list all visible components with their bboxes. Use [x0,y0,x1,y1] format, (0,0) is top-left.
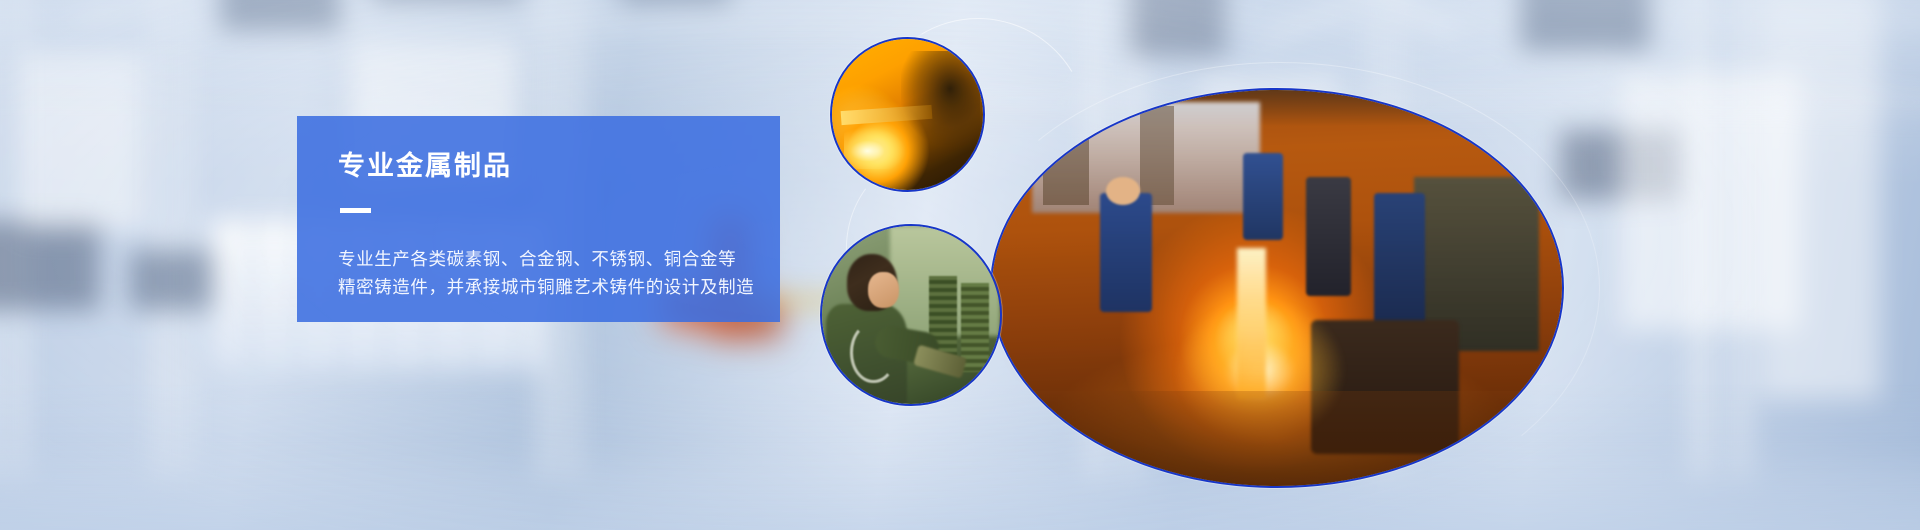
hero-text-panel: 专业金属制品 专业生产各类碳素钢、合金钢、不锈钢、铜合金等 精密铸造件，并承接城… [297,116,780,322]
hero-banner: 专业金属制品 专业生产各类碳素钢、合金钢、不锈钢、铜合金等 精密铸造件，并承接城… [0,0,1920,530]
hero-description: 专业生产各类碳素钢、合金钢、不锈钢、铜合金等 精密铸造件，并承接城市铜雕艺术铸件… [338,245,780,302]
welding-photo [830,37,985,192]
worker-photo [820,224,1002,406]
hero-description-line-2: 精密铸造件，并承接城市铜雕艺术铸件的设计及制造 [338,273,780,301]
foundry-photo [990,88,1564,488]
title-divider [340,208,371,213]
page-title: 专业金属制品 [338,152,780,182]
hero-description-line-1: 专业生产各类碳素钢、合金钢、不锈钢、铜合金等 [338,245,780,273]
